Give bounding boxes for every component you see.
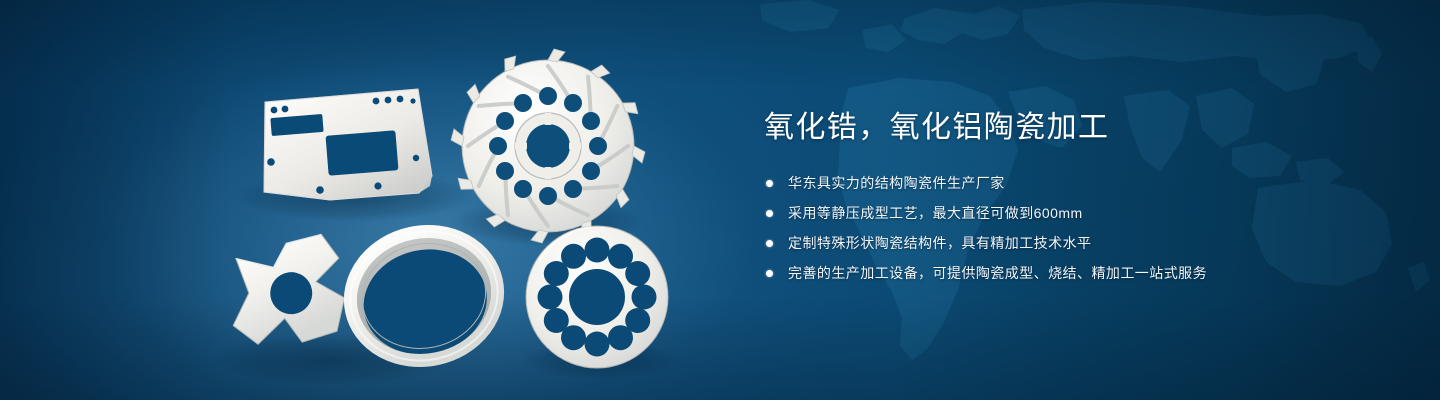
feature-list-item: 华东具实力的结构陶瓷件生产厂家 — [764, 172, 1324, 195]
bullet-dot-icon — [766, 270, 773, 277]
bullet-dot-icon — [766, 240, 773, 247]
feature-item-label: 采用等静压成型工艺，最大直径可做到600mm — [788, 205, 1083, 221]
banner-copy: 氧化锆，氧化铝陶瓷加工 华东具实力的结构陶瓷件生产厂家 采用等静压成型工艺，最大… — [764, 108, 1324, 292]
promo-banner: 氧化锆，氧化铝陶瓷加工 华东具实力的结构陶瓷件生产厂家 采用等静压成型工艺，最大… — [0, 0, 1440, 400]
feature-item-label: 完善的生产加工设备，可提供陶瓷成型、烧结、精加工一站式服务 — [788, 265, 1207, 281]
banner-feature-list: 华东具实力的结构陶瓷件生产厂家 采用等静压成型工艺，最大直径可做到600mm 定… — [764, 172, 1324, 285]
bullet-dot-icon — [766, 210, 773, 217]
ceramic-perforated-disc-graphic — [526, 226, 668, 368]
ceramic-products-image — [0, 0, 720, 400]
feature-item-label: 定制特殊形状陶瓷结构件，具有精加工技术水平 — [788, 235, 1091, 251]
feature-list-item: 完善的生产加工设备，可提供陶瓷成型、烧结、精加工一站式服务 — [764, 262, 1324, 285]
feature-item-label: 华东具实力的结构陶瓷件生产厂家 — [788, 175, 1005, 191]
ceramic-cross-plate-graphic — [222, 232, 349, 351]
bullet-dot-icon — [766, 180, 773, 187]
feature-list-item: 定制特殊形状陶瓷结构件，具有精加工技术水平 — [764, 232, 1324, 255]
feature-list-item: 采用等静压成型工艺，最大直径可做到600mm — [764, 202, 1324, 225]
banner-headline: 氧化锆，氧化铝陶瓷加工 — [764, 108, 1324, 148]
ceramic-mounting-plate-graphic — [264, 89, 432, 200]
